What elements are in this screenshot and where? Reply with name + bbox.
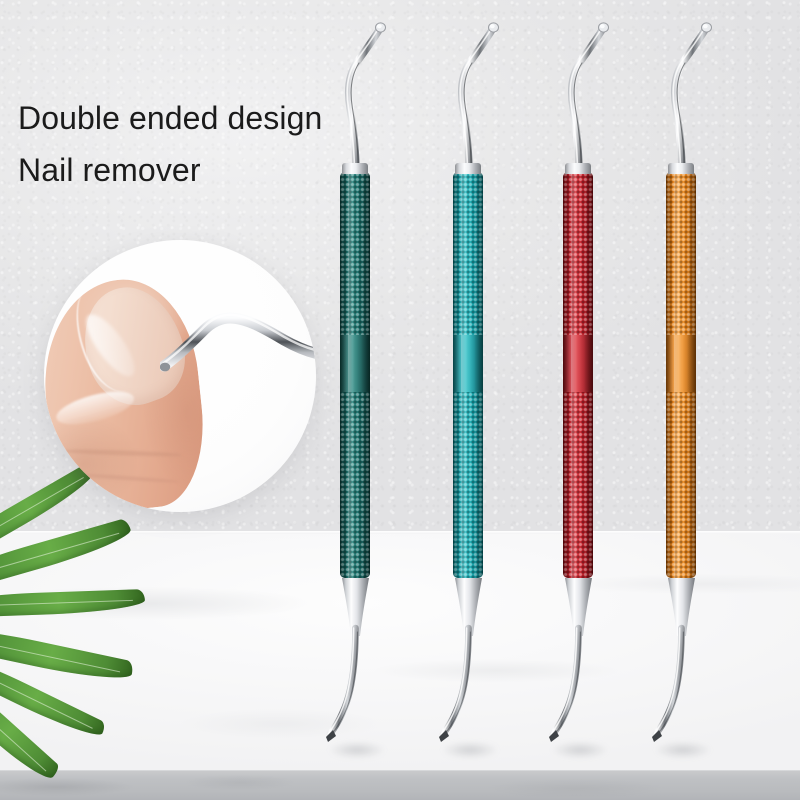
handle-shading-3 <box>584 172 593 578</box>
handle[interactable] <box>563 172 593 578</box>
product-image-stage: Double ended design Nail remover <box>0 0 800 800</box>
drop-shadow <box>655 742 711 758</box>
nail-tool-dark-teal[interactable] <box>310 0 430 800</box>
handle-shading-3 <box>474 172 483 578</box>
leaf <box>0 621 134 686</box>
leaf <box>0 518 134 597</box>
handle-shading-3 <box>361 172 370 578</box>
handle-shading-2 <box>571 172 578 578</box>
nail-tool-red[interactable] <box>533 0 653 800</box>
handle-shading-3 <box>687 172 696 578</box>
green-leaf-cluster <box>0 516 270 781</box>
drop-shadow <box>552 742 608 758</box>
nail-tool-orange[interactable] <box>636 0 756 800</box>
handle[interactable] <box>340 172 370 578</box>
handle[interactable] <box>453 172 483 578</box>
ferrule-collar <box>565 163 591 174</box>
leaf <box>0 589 145 618</box>
handle-shading-1 <box>666 172 673 578</box>
handle-shading-2 <box>674 172 681 578</box>
handle-shading-2 <box>461 172 468 578</box>
drop-shadow <box>329 742 385 758</box>
ferrule-collar <box>455 163 481 174</box>
nail-tool-cyan[interactable] <box>423 0 543 800</box>
drop-shadow <box>442 742 498 758</box>
cuticle-pusher-demo-photo <box>44 240 316 512</box>
handle-shading-1 <box>340 172 347 578</box>
ferrule-collar <box>668 163 694 174</box>
handle-shading-2 <box>348 172 355 578</box>
inset-tool-tip <box>160 290 316 400</box>
ferrule-collar <box>342 163 368 174</box>
handle-shading-1 <box>453 172 460 578</box>
handle-shading-1 <box>563 172 570 578</box>
handle[interactable] <box>666 172 696 578</box>
